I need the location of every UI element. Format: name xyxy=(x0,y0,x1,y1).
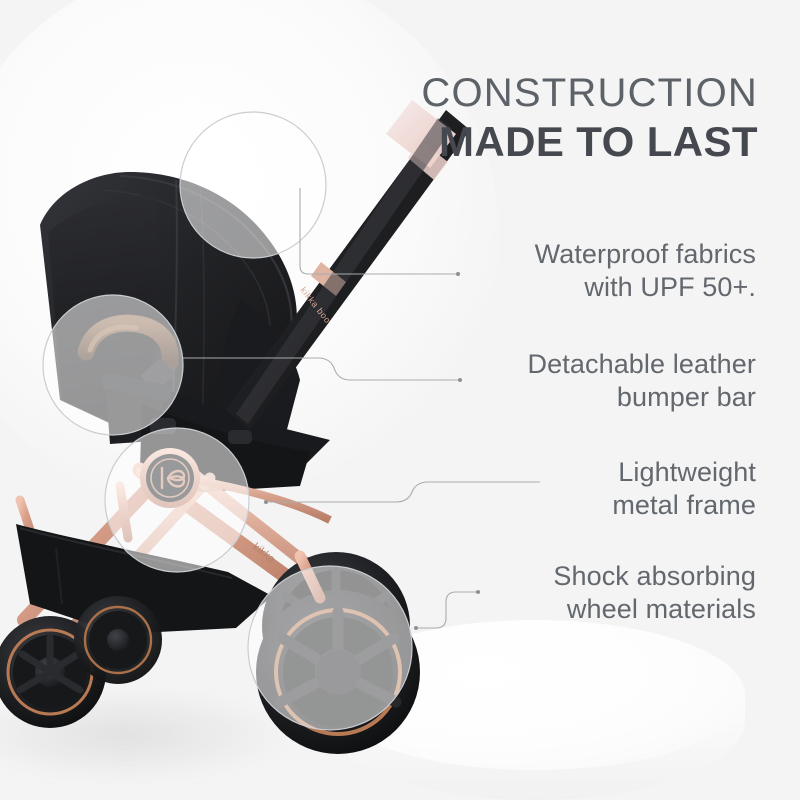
feature-text-line-1: Waterproof fabrics xyxy=(535,238,756,271)
headline-line-1: CONSTRUCTION xyxy=(421,72,758,114)
feature-text-line-2: metal frame xyxy=(612,489,756,522)
infographic-stage: kikka boo kikka xyxy=(0,0,800,800)
feature-lightweight-metal-frame: Lightweight metal frame xyxy=(612,456,756,523)
feature-text-line-2: with UPF 50+. xyxy=(535,271,756,304)
feature-shock-absorbing-wheel-materials: Shock absorbing wheel materials xyxy=(553,560,756,627)
feature-waterproof-fabrics: Waterproof fabrics with UPF 50+. xyxy=(535,238,756,305)
headline-line-2: MADE TO LAST xyxy=(421,118,758,165)
headline: CONSTRUCTION MADE TO LAST xyxy=(421,72,758,165)
feature-text-line-1: Shock absorbing xyxy=(553,560,756,593)
podium-top xyxy=(325,620,745,770)
feature-text-line-1: Lightweight xyxy=(612,456,756,489)
feature-detachable-leather-bumper-bar: Detachable leather bumper bar xyxy=(528,348,756,415)
feature-text-line-2: bumper bar xyxy=(528,381,756,414)
feature-text-line-1: Detachable leather xyxy=(528,348,756,381)
feature-text-line-2: wheel materials xyxy=(553,593,756,626)
